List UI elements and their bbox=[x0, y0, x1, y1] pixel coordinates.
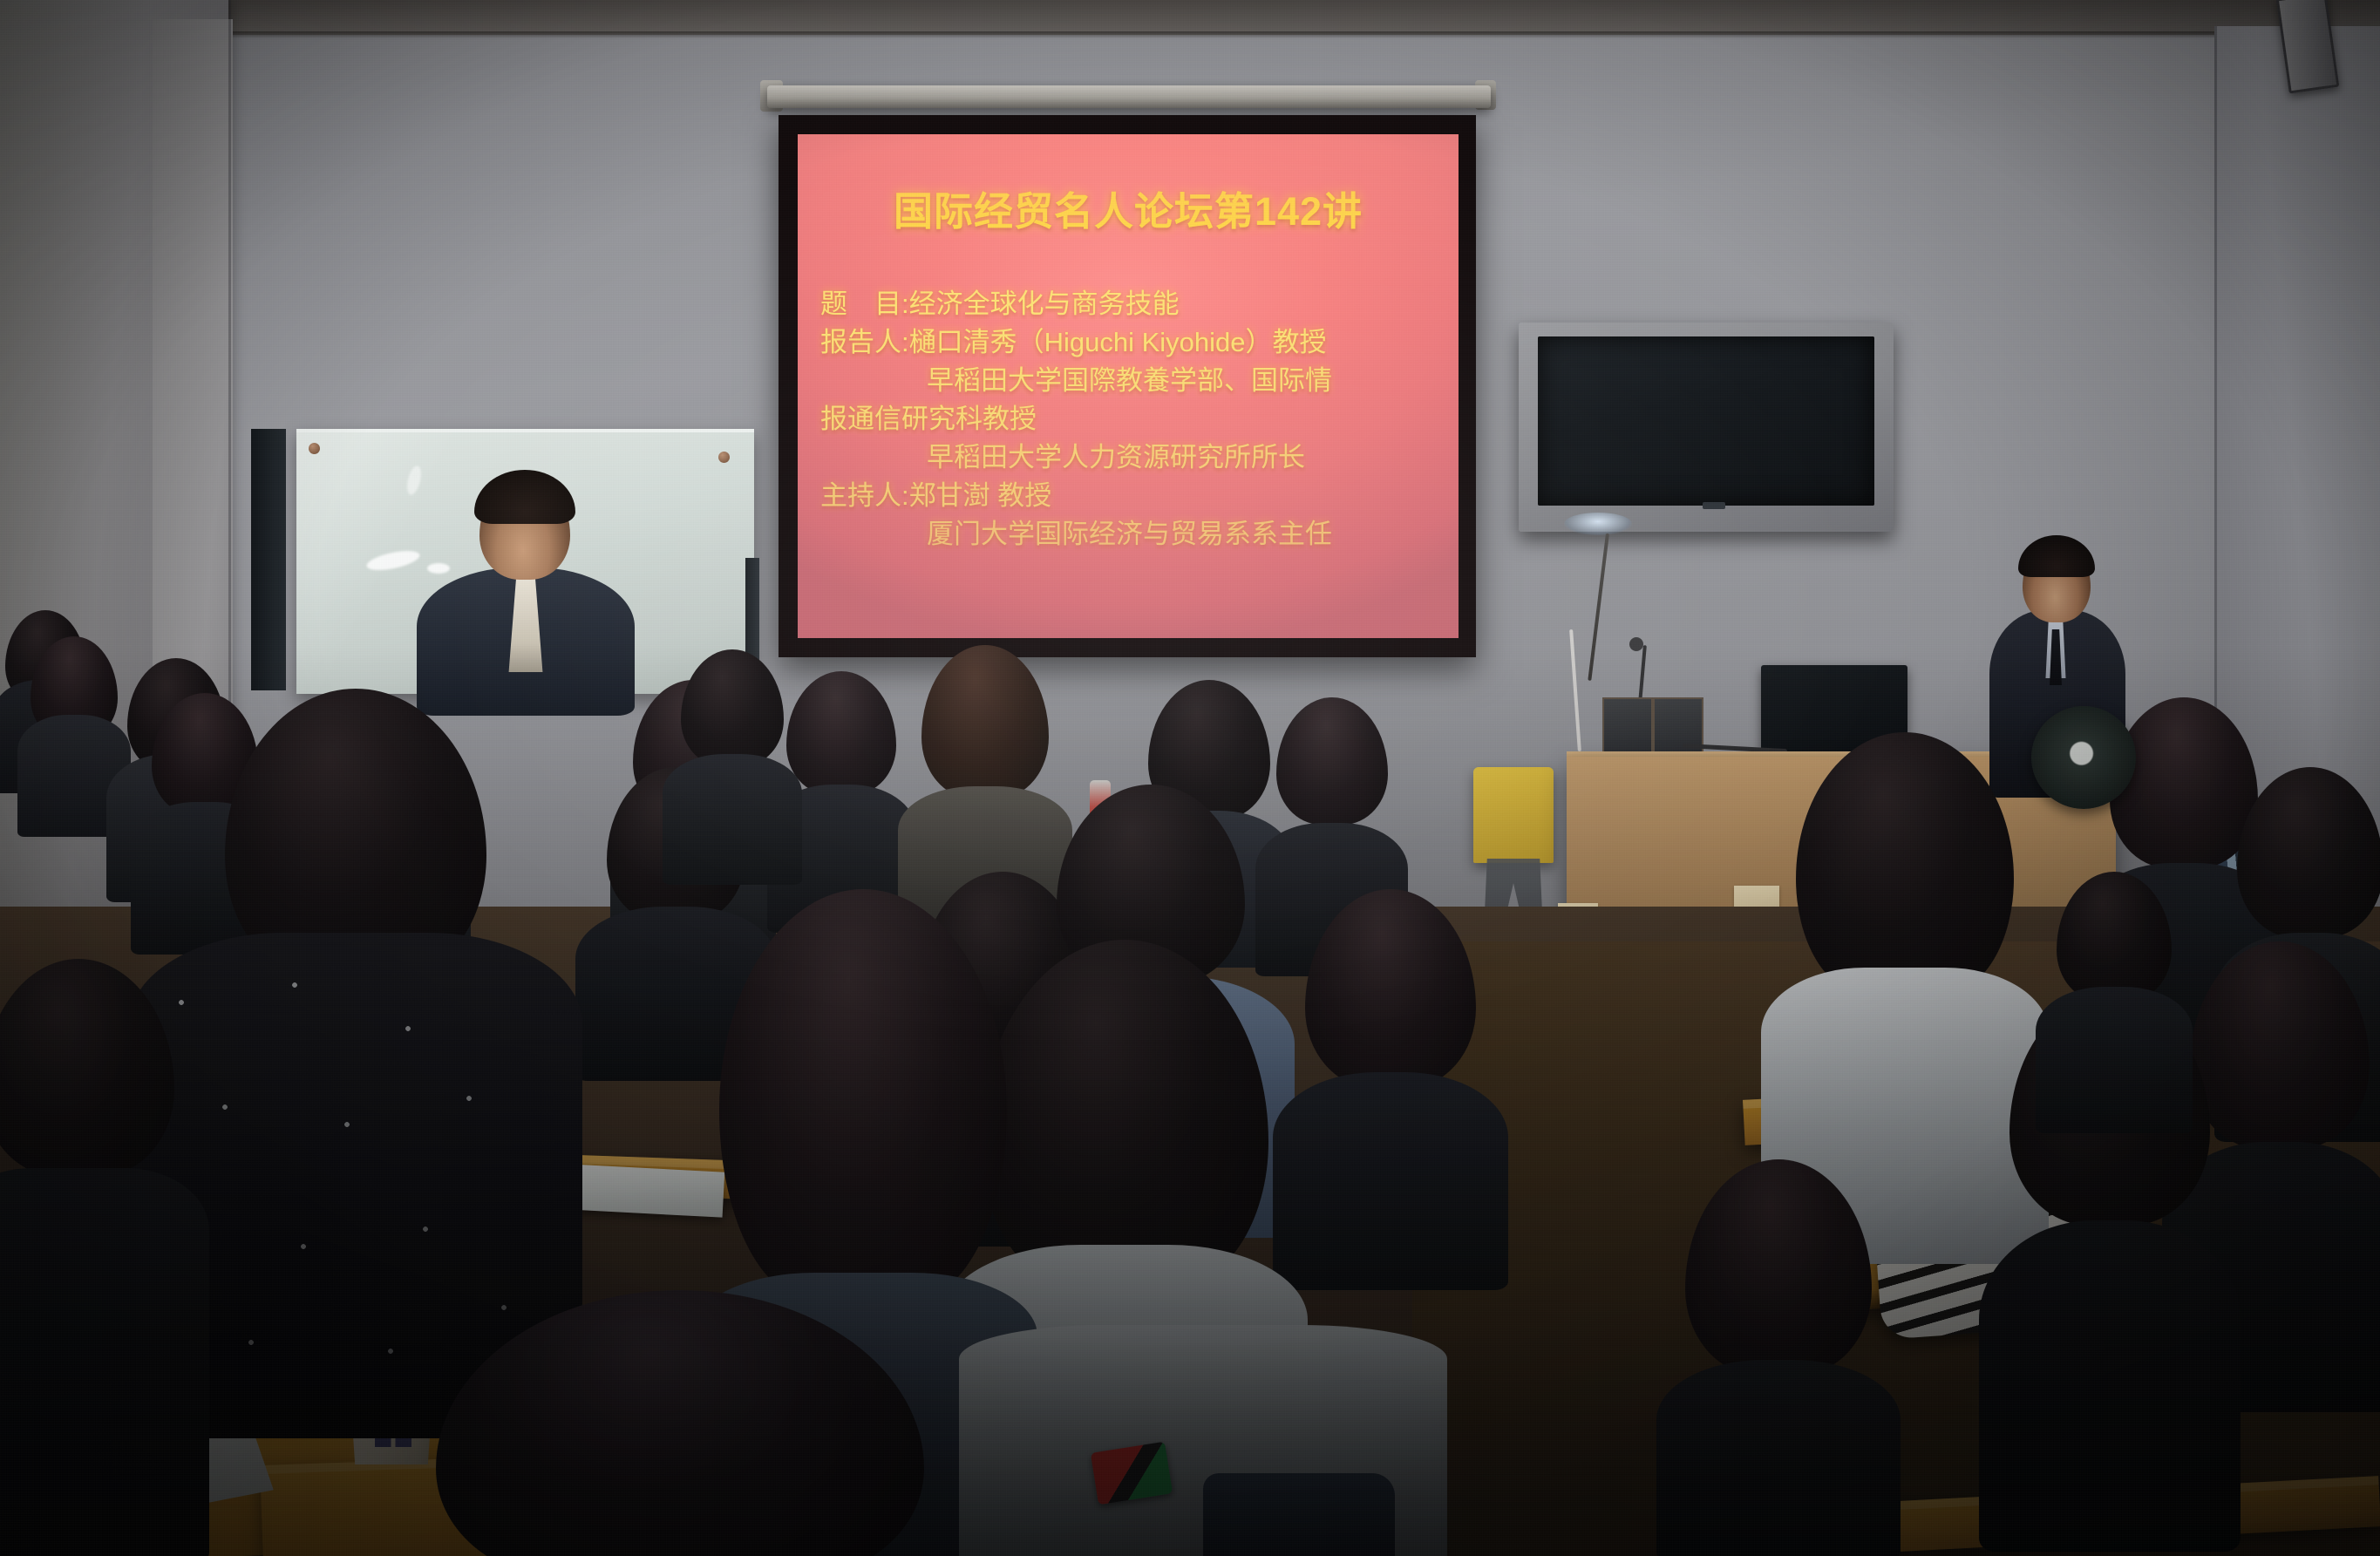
student-body bbox=[1656, 1360, 1901, 1556]
whiteboard-screw bbox=[309, 443, 320, 454]
student-head bbox=[2057, 872, 2172, 1002]
lecturer-at-whiteboard bbox=[417, 475, 635, 702]
projection-screen-surface: 国际经贸名人论坛第142讲 题 目:经济全球化与商务技能 报告人:樋口清秀（Hi… bbox=[798, 134, 1459, 638]
electric-fan-icon bbox=[2031, 706, 2136, 809]
wall-mounted-television bbox=[1519, 323, 1894, 532]
backpack bbox=[1203, 1473, 1395, 1556]
student-body bbox=[663, 754, 802, 885]
television-screen bbox=[1538, 336, 1874, 506]
student-head bbox=[2237, 767, 2380, 938]
student-head bbox=[1305, 889, 1476, 1088]
seated-student-foreground-left bbox=[0, 959, 209, 1556]
slide-line-7: 厦门大学国际经济与贸易系系主任 bbox=[820, 515, 1436, 554]
student-body bbox=[1979, 1220, 2241, 1552]
slide-content: 国际经贸名人论坛第142讲 题 目:经济全球化与商务技能 报告人:樋口清秀（Hi… bbox=[798, 134, 1459, 638]
student-body bbox=[2036, 987, 2193, 1133]
projection-screen: 国际经贸名人论坛第142讲 题 目:经济全球化与商务技能 报告人:樋口清秀（Hi… bbox=[779, 115, 1476, 657]
seated-student-foreground-center bbox=[410, 1290, 950, 1556]
yellow-classroom-chair bbox=[1473, 767, 1554, 863]
student-head bbox=[0, 959, 174, 1177]
slide-line-6: 主持人:郑甘澍 教授 bbox=[820, 477, 1436, 515]
slide-line-2: 报告人:樋口清秀（Higuchi Kiyohide）教授 bbox=[820, 323, 1436, 362]
slide-line-1: 题 目:经济全球化与商务技能 bbox=[820, 285, 1436, 323]
slide-line-5: 早稻田大学人力资源研究所所长 bbox=[820, 438, 1436, 477]
seated-student bbox=[663, 649, 802, 885]
screen-roller-housing bbox=[767, 85, 1491, 108]
whiteboard-glare bbox=[365, 547, 421, 574]
seated-student bbox=[1656, 1159, 1901, 1556]
student-head bbox=[1796, 732, 2014, 994]
student-head bbox=[921, 645, 1049, 798]
whiteboard-screw bbox=[718, 452, 730, 463]
seated-student bbox=[2036, 872, 2193, 1133]
student-head bbox=[786, 671, 896, 795]
microphone-head-icon bbox=[1629, 637, 1643, 651]
lecture-hall-photo: 国际经贸名人论坛第142讲 题 目:经济全球化与商务技能 报告人:樋口清秀（Hi… bbox=[0, 0, 2380, 1556]
student-head bbox=[436, 1290, 924, 1556]
student-head bbox=[681, 649, 784, 766]
television-logo bbox=[1703, 502, 1725, 509]
slide-line-3: 早稻田大学国際教養学部、国际情 bbox=[820, 362, 1436, 400]
slide-line-4: 报通信研究科教授 bbox=[820, 400, 1436, 438]
student-body bbox=[1273, 1072, 1508, 1290]
ceiling-wall-seam bbox=[218, 31, 2380, 38]
slide-title: 国际经贸名人论坛第142讲 bbox=[820, 180, 1436, 236]
lecturer-hair bbox=[474, 470, 575, 524]
student-body bbox=[0, 1168, 209, 1556]
student-head bbox=[719, 889, 1007, 1299]
student-head bbox=[1685, 1159, 1872, 1376]
whiteboard-frame-left bbox=[251, 429, 286, 690]
television-indicator-glow bbox=[1564, 513, 1632, 535]
standing-man-hair bbox=[2018, 535, 2095, 577]
seated-student bbox=[1273, 889, 1508, 1290]
